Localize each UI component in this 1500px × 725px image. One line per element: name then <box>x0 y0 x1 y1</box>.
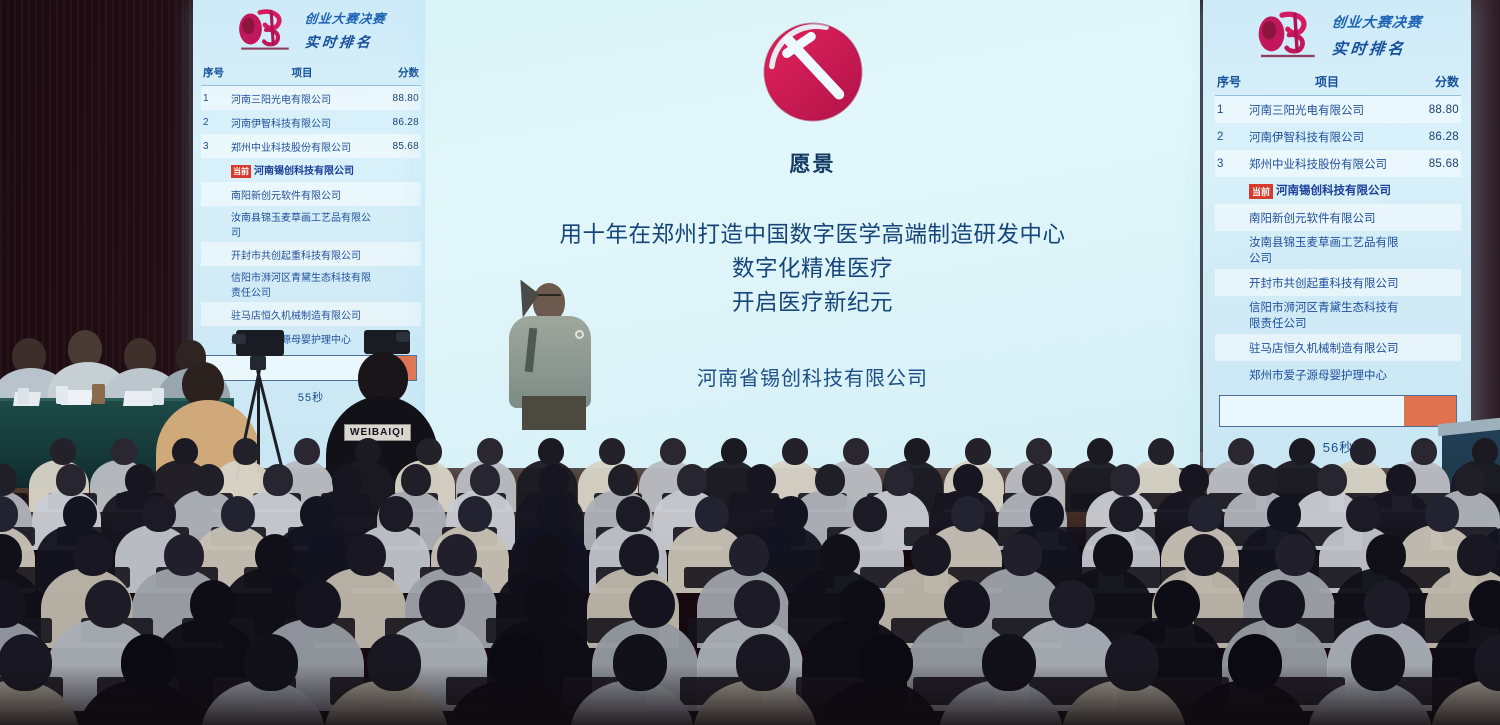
audience-head <box>1275 534 1315 576</box>
ranking-row-score: 88.80 <box>375 93 419 104</box>
audience-head <box>300 496 334 532</box>
ranking-row-name: 汝南县锦玉麦草画工艺品有限公司 <box>229 209 375 239</box>
ranking-row-name: 信阳市浉河区青黛生态科技有限责任公司 <box>229 269 375 299</box>
ranking-row-name: 郑州中业科技股份有限公司 <box>229 139 375 154</box>
audience-head <box>1317 464 1347 496</box>
ranking-row-name: 南阳新创元软件有限公司 <box>229 187 375 202</box>
presenter-glasses-icon <box>537 294 561 301</box>
audience-head <box>470 464 500 496</box>
ranking-row-no: 3 <box>1217 158 1247 170</box>
audience-head <box>419 580 465 628</box>
audience-head <box>629 580 675 628</box>
ranking-row: 3郑州中业科技股份有限公司85.68 <box>1215 150 1461 177</box>
audience-head <box>164 534 204 576</box>
water-cup <box>18 388 29 404</box>
water-cup <box>152 388 164 405</box>
audience-head <box>1022 464 1052 496</box>
ranking-row-name: 郑州市爱子源母婴护理中心 <box>1247 367 1407 383</box>
ranking-row-score: 85.68 <box>375 141 419 152</box>
ranking-row: 驻马店恒久机械制造有限公司 <box>1215 334 1461 361</box>
audience-head <box>1386 464 1416 496</box>
audience-head <box>111 438 137 465</box>
board-title-line1: 创业大赛决赛 <box>1331 12 1423 32</box>
audience-head <box>944 580 990 628</box>
ranking-table-body-left: 1河南三阳光电有限公司88.802河南伊智科技有限公司86.283郑州中业科技股… <box>201 86 421 350</box>
ranking-row: 当前河南锡创科技有限公司 <box>201 158 421 182</box>
audience-head <box>734 580 780 628</box>
audience-head <box>1184 534 1224 576</box>
audience-head <box>729 534 769 576</box>
audience-head <box>619 534 659 576</box>
audience-head <box>911 534 951 576</box>
audience-head <box>965 438 991 465</box>
audience-head <box>194 464 224 496</box>
audience-head <box>85 580 131 628</box>
audience-head <box>1259 580 1305 628</box>
audience-head <box>1049 580 1095 628</box>
audience-head <box>746 464 776 496</box>
ranking-row-name: 开封市共创起重科技有限公司 <box>1247 275 1407 291</box>
ranking-row-name: 信阳市浉河区青黛生态科技有限责任公司 <box>1247 299 1407 331</box>
audience-head <box>0 464 17 496</box>
speech-progress-bar-right <box>1219 395 1457 427</box>
ranking-row: 驻马店恒久机械制造有限公司 <box>201 302 421 326</box>
ranking-row-name: 汝南县锦玉麦草画工艺品有限公司 <box>1247 234 1407 266</box>
audience-head <box>233 438 259 465</box>
presenter-legs <box>522 396 586 430</box>
audience-head <box>537 496 571 532</box>
screenshot-root: 创业大赛决赛 实时排名 序号 项目 分数 1河南三阳光电有限公司88.802河南… <box>0 0 1500 725</box>
audience-head <box>1411 438 1437 465</box>
audience-head <box>1110 464 1140 496</box>
audience-head <box>528 534 568 576</box>
ranking-row-score: 86.28 <box>375 117 419 128</box>
audience-head <box>695 496 729 532</box>
ranking-row: 南阳新创元软件有限公司 <box>201 182 421 206</box>
board-title-line2: 实时排名 <box>1331 37 1423 59</box>
audience-head <box>1472 438 1498 465</box>
audience-head <box>73 534 113 576</box>
thermos-cup <box>92 384 105 404</box>
foreground-shadow <box>0 665 1500 725</box>
audience-head <box>1026 438 1052 465</box>
ranking-row-name: 河南三阳光电有限公司 <box>1247 102 1407 118</box>
audience-head <box>56 464 86 496</box>
audience-head <box>616 496 650 532</box>
audience-head <box>539 464 569 496</box>
slide-section-title: 愿景 <box>425 148 1200 178</box>
ranking-row: 3郑州中业科技股份有限公司85.68 <box>201 134 421 158</box>
audience-head <box>416 438 442 465</box>
col-score: 分数 <box>375 65 419 80</box>
ranking-row-name: 河南三阳光电有限公司 <box>229 91 375 106</box>
audience-head <box>1457 534 1497 576</box>
audience-head <box>815 464 845 496</box>
audience-head <box>904 438 930 465</box>
ranking-row-name: 驻马店恒久机械制造有限公司 <box>1247 340 1407 356</box>
progress-elapsed <box>1404 396 1456 426</box>
audience-head <box>172 438 198 465</box>
audience-head <box>346 534 386 576</box>
ranking-row: 1河南三阳光电有限公司88.80 <box>1215 96 1461 123</box>
col-name: 项目 <box>1247 73 1407 90</box>
audience-head <box>1455 464 1485 496</box>
audience-head <box>1109 496 1143 532</box>
water-cup <box>56 386 68 404</box>
audience-head <box>63 496 97 532</box>
ranking-row: 郑州市爱子源母婴护理中心 <box>1215 361 1461 388</box>
audience-head <box>1093 534 1133 576</box>
audience-head <box>1228 438 1254 465</box>
ranking-row-name: 当前河南锡创科技有限公司 <box>1247 182 1407 198</box>
ranking-row-score: 86.28 <box>1407 131 1459 143</box>
audience-head <box>884 464 914 496</box>
ranking-row-score: 85.68 <box>1407 158 1459 170</box>
current-speaker-badge: 当前 <box>231 165 251 178</box>
audience-head <box>820 534 860 576</box>
ranking-row: 汝南县锦玉麦草画工艺品有限公司 <box>1215 231 1461 269</box>
audience-head <box>782 438 808 465</box>
ranking-table-header-left: 序号 项目 分数 <box>201 62 421 86</box>
ranking-row: 2河南伊智科技有限公司86.28 <box>1215 123 1461 150</box>
ranking-board-header-right: 创业大赛决赛 实时排名 <box>1215 8 1461 62</box>
audience-head <box>190 580 236 628</box>
col-no: 序号 <box>1217 73 1247 90</box>
chuangtianxia-logo-icon <box>235 6 297 54</box>
audience-head <box>1364 580 1410 628</box>
audience-head <box>295 580 341 628</box>
ranking-row: 信阳市浉河区青黛生态科技有限责任公司 <box>201 266 421 302</box>
ranking-row-no: 1 <box>203 93 229 104</box>
chuangtianxia-logo-icon <box>1254 8 1324 62</box>
col-name: 项目 <box>229 65 375 80</box>
current-speaker-badge: 当前 <box>1249 184 1273 199</box>
ranking-row: 1河南三阳光电有限公司88.80 <box>201 86 421 110</box>
audience-head <box>255 534 295 576</box>
audience-head <box>1346 496 1380 532</box>
audience-head <box>458 496 492 532</box>
ranking-row-no: 3 <box>203 141 229 152</box>
audience-head <box>953 464 983 496</box>
audience-head <box>677 464 707 496</box>
audience-head <box>853 496 887 532</box>
audience-head <box>50 438 76 465</box>
audience-head <box>951 496 985 532</box>
board-title-line1: 创业大赛决赛 <box>304 8 387 27</box>
presenter-badge <box>575 330 584 339</box>
audience-head <box>1002 534 1042 576</box>
audience-head <box>355 438 381 465</box>
audience-head <box>379 496 413 532</box>
audience-head <box>1087 438 1113 465</box>
slide-line-2: 数字化精准医疗 <box>425 252 1200 286</box>
audience-head <box>538 438 564 465</box>
ranking-row-name: 开封市共创起重科技有限公司 <box>229 247 375 262</box>
progress-remaining <box>1220 396 1404 426</box>
audience-head <box>401 464 431 496</box>
ranking-row: 2河南伊智科技有限公司86.28 <box>201 110 421 134</box>
audience-head <box>524 580 570 628</box>
audience-head <box>1148 438 1174 465</box>
ranking-row-name: 驻马店恒久机械制造有限公司 <box>229 307 375 322</box>
ranking-row: 南阳新创元软件有限公司 <box>1215 204 1461 231</box>
slide-line-1: 用十年在郑州打造中国数字医学高端制造研发中心 <box>425 218 1200 252</box>
ranking-row-name: 当前河南锡创科技有限公司 <box>229 162 375 178</box>
audience-head <box>599 438 625 465</box>
ranking-row-name: 河南伊智科技有限公司 <box>1247 129 1407 145</box>
audience-head <box>774 496 808 532</box>
ranking-row: 开封市共创起重科技有限公司 <box>1215 269 1461 296</box>
audience-head <box>660 438 686 465</box>
audience-head <box>142 496 176 532</box>
audience-head <box>1154 580 1200 628</box>
audience-head <box>1188 496 1222 532</box>
ranking-table-header-right: 序号 项目 分数 <box>1215 70 1461 96</box>
audience-head <box>437 534 477 576</box>
ranking-row-name: 河南伊智科技有限公司 <box>229 115 375 130</box>
audience-head <box>221 496 255 532</box>
ranking-row: 信阳市浉河区青黛生态科技有限责任公司 <box>1215 296 1461 334</box>
audience-head <box>1267 496 1301 532</box>
ranking-board-header-left: 创业大赛决赛 实时排名 <box>201 6 421 54</box>
ranking-row-name: 郑州中业科技股份有限公司 <box>1247 156 1407 172</box>
col-no: 序号 <box>203 65 229 80</box>
ranking-table-body-right: 1河南三阳光电有限公司88.802河南伊智科技有限公司86.283郑州中业科技股… <box>1215 96 1461 388</box>
audience-head <box>721 438 747 465</box>
audience-head <box>1030 496 1064 532</box>
ranking-row-no: 2 <box>1217 131 1247 143</box>
judge-paper <box>123 391 155 406</box>
audience-head <box>332 464 362 496</box>
audience-head <box>1248 464 1278 496</box>
board-title-line2: 实时排名 <box>304 32 387 52</box>
ranking-row-no: 1 <box>1217 104 1247 116</box>
ranking-row-score: 88.80 <box>1407 104 1459 116</box>
ranking-board-right: 创业大赛决赛 实时排名 序号 项目 分数 1河南三阳光电有限公司88.802河南… <box>1203 0 1471 468</box>
ranking-row-no: 2 <box>203 117 229 128</box>
audience-head <box>477 438 503 465</box>
audience-head <box>294 438 320 465</box>
audience-head <box>263 464 293 496</box>
audience-head <box>839 580 885 628</box>
ranking-row: 汝南县锦玉麦草画工艺品有限公司 <box>201 206 421 242</box>
ranking-row: 当前河南锡创科技有限公司 <box>1215 177 1461 204</box>
audience-head <box>1366 534 1406 576</box>
audience-head <box>1289 438 1315 465</box>
audience-head <box>1425 496 1459 532</box>
ranking-row-name: 南阳新创元软件有限公司 <box>1247 210 1407 226</box>
audience-head <box>843 438 869 465</box>
audience-head <box>608 464 638 496</box>
col-score: 分数 <box>1407 73 1459 90</box>
audience-head <box>1350 438 1376 465</box>
company-circle-logo-icon <box>757 16 869 128</box>
audience-head <box>1179 464 1209 496</box>
ranking-row: 开封市共创起重科技有限公司 <box>201 242 421 266</box>
audience-head <box>125 464 155 496</box>
